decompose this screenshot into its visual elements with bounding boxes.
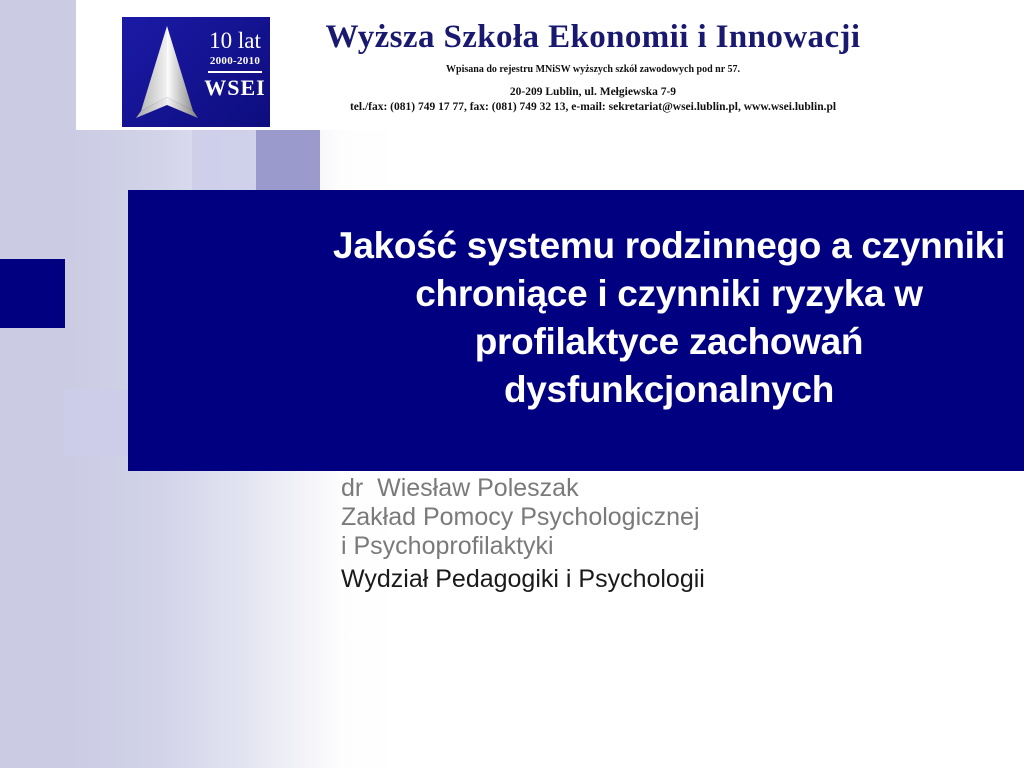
wsei-arrow-icon — [128, 23, 206, 121]
slide-title: Jakość systemu rodzinnego a czynniki chr… — [333, 222, 1005, 414]
logo-text-column: 10 lat 2000-2010 WSEI — [204, 29, 266, 100]
institution-name: Wyższa Szkoła Ekonomii i Innowacji — [278, 18, 908, 56]
logo-years: 2000-2010 — [204, 53, 266, 69]
logo-anniversary: 10 lat — [204, 29, 266, 53]
author-faculty: Wydział Pedagogiki i Psychologii — [341, 565, 981, 594]
institution-details: Wpisana do rejestru MNiSW wyższych szkół… — [278, 64, 908, 115]
registry-line: Wpisana do rejestru MNiSW wyższych szkół… — [278, 64, 908, 75]
square-mid-d — [256, 130, 320, 194]
wsei-logo: 10 lat 2000-2010 WSEI — [122, 17, 270, 127]
presentation-slide: 10 lat 2000-2010 WSEI Wyższa Szkoła Ekon… — [0, 0, 1024, 768]
square-light-e — [64, 390, 128, 456]
author-department: Zakład Pomocy Psychologicznej — [341, 503, 981, 532]
logo-acronym: WSEI — [204, 76, 266, 100]
square-light-a — [192, 130, 256, 194]
address-line: 20-209 Lublin, ul. Mełgiewska 7-9 — [278, 85, 908, 100]
square-navy-a — [0, 259, 65, 328]
author-block: dr Wiesław Poleszak Zakład Pomocy Psycho… — [341, 474, 981, 594]
author-name: dr Wiesław Poleszak — [341, 474, 981, 503]
author-department-cont: i Psychoprofilaktyki — [341, 532, 981, 561]
logo-divider — [208, 71, 262, 73]
contact-line: tel./fax: (081) 749 17 77, fax: (081) 74… — [278, 100, 908, 115]
